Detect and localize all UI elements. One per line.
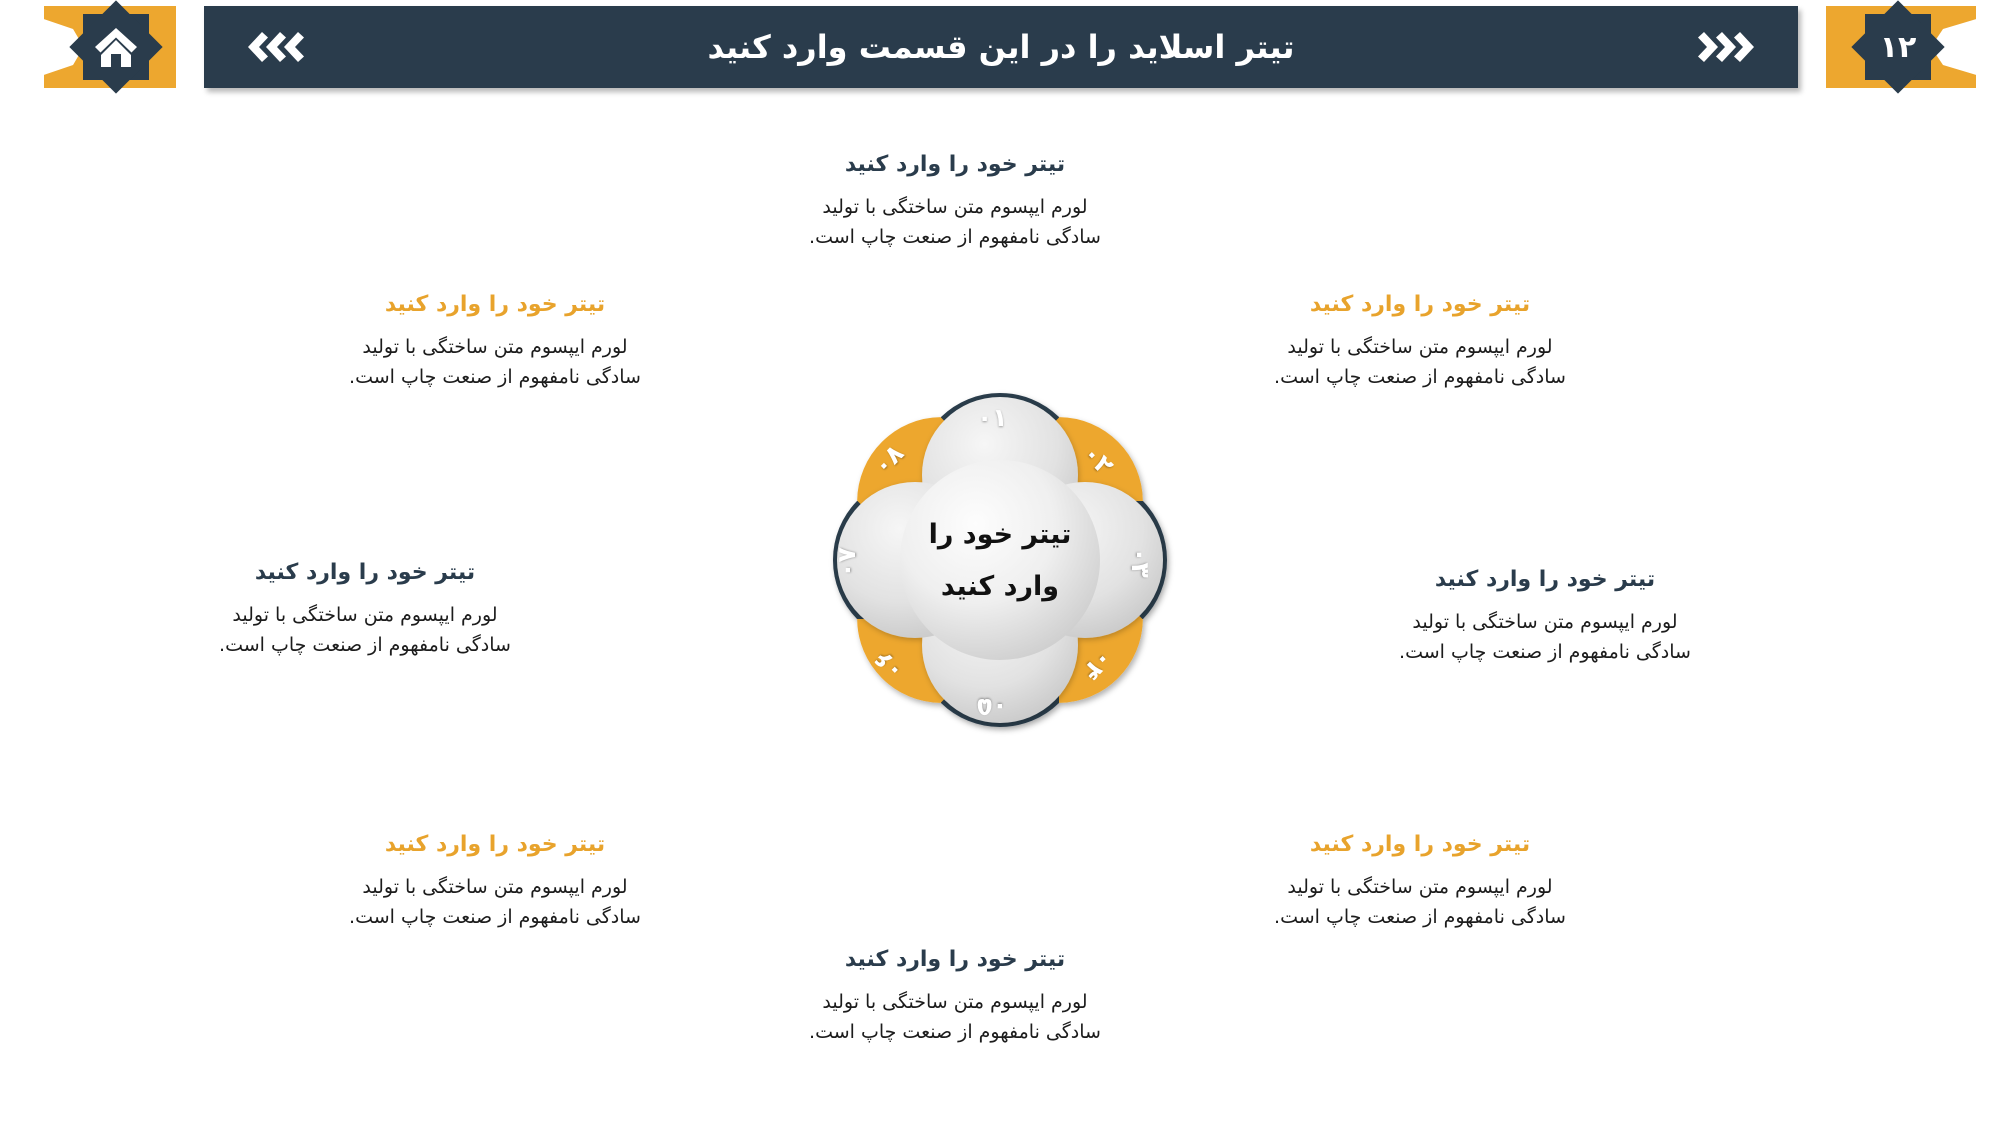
text-block-04-heading: تیتر خود را وارد کنید — [1270, 830, 1570, 860]
petal-label-01: ۰۱ — [977, 403, 1008, 432]
center-disc — [900, 460, 1100, 660]
petal-label-07: ۰۷ — [832, 547, 861, 578]
home-star-badge[interactable] — [72, 3, 160, 91]
text-block-01-body: لورم ایپسوم متن ساختگی با تولید سادگی نا… — [805, 192, 1105, 254]
text-block-03-body: لورم ایپسوم متن ساختگی با تولید سادگی نا… — [1395, 607, 1695, 669]
chevrons-right-icon — [1690, 30, 1762, 64]
home-icon — [93, 25, 139, 69]
slide-header: تیتر اسلاید را در این قسمت وارد کنید ۱۲ — [0, 0, 2000, 96]
text-block-05-heading: تیتر خود را وارد کنید — [805, 945, 1105, 975]
text-block-02: تیتر خود را وارد کنید لورم ایپسوم متن سا… — [1270, 290, 1570, 393]
text-block-08: تیتر خود را وارد کنید لورم ایپسوم متن سا… — [345, 290, 645, 393]
text-block-07-heading: تیتر خود را وارد کنید — [215, 558, 515, 588]
text-block-06-heading: تیتر خود را وارد کنید — [345, 830, 645, 860]
text-block-04-body: لورم ایپسوم متن ساختگی با تولید سادگی نا… — [1270, 872, 1570, 934]
text-block-03: تیتر خود را وارد کنید لورم ایپسوم متن سا… — [1395, 565, 1695, 668]
text-block-01-heading: تیتر خود را وارد کنید — [805, 150, 1105, 180]
text-block-03-heading: تیتر خود را وارد کنید — [1395, 565, 1695, 595]
chevrons-left-icon — [240, 30, 312, 64]
prev-slide-button[interactable] — [240, 30, 312, 64]
petal-label-05: ۰۵ — [977, 693, 1008, 722]
text-block-07-body: لورم ایپسوم متن ساختگی با تولید سادگی نا… — [215, 600, 515, 662]
page-title: تیتر اسلاید را در این قسمت وارد کنید — [707, 28, 1294, 66]
text-block-07: تیتر خود را وارد کنید لورم ایپسوم متن سا… — [215, 558, 515, 661]
text-block-05-body: لورم ایپسوم متن ساختگی با تولید سادگی نا… — [805, 987, 1105, 1049]
text-block-08-heading: تیتر خود را وارد کنید — [345, 290, 645, 320]
text-block-06-body: لورم ایپسوم متن ساختگی با تولید سادگی نا… — [345, 872, 645, 934]
title-bar: تیتر اسلاید را در این قسمت وارد کنید — [204, 6, 1798, 88]
text-block-08-body: لورم ایپسوم متن ساختگی با تولید سادگی نا… — [345, 332, 645, 394]
text-block-02-body: لورم ایپسوم متن ساختگی با تولید سادگی نا… — [1270, 332, 1570, 394]
next-slide-button[interactable] — [1690, 30, 1762, 64]
text-block-01: تیتر خود را وارد کنید لورم ایپسوم متن سا… — [805, 150, 1105, 253]
page-number-label: ۱۲ — [1854, 3, 1942, 91]
text-block-05: تیتر خود را وارد کنید لورم ایپسوم متن سا… — [805, 945, 1105, 1048]
slide-root: تیتر اسلاید را در این قسمت وارد کنید ۱۲ — [0, 0, 2000, 1125]
text-block-06: تیتر خود را وارد کنید لورم ایپسوم متن سا… — [345, 830, 645, 933]
text-block-04: تیتر خود را وارد کنید لورم ایپسوم متن سا… — [1270, 830, 1570, 933]
petal-label-03: ۰۳ — [1126, 547, 1155, 578]
text-block-02-heading: تیتر خود را وارد کنید — [1270, 290, 1570, 320]
flower-diagram: ۰۱ ۰۲ ۰۳ ۰۴ ۰۵ ۰۶ ۰۷ ۰۸ تیتر خود را وارد… — [795, 355, 1205, 765]
page-number-badge: ۱۲ — [1854, 3, 1942, 91]
